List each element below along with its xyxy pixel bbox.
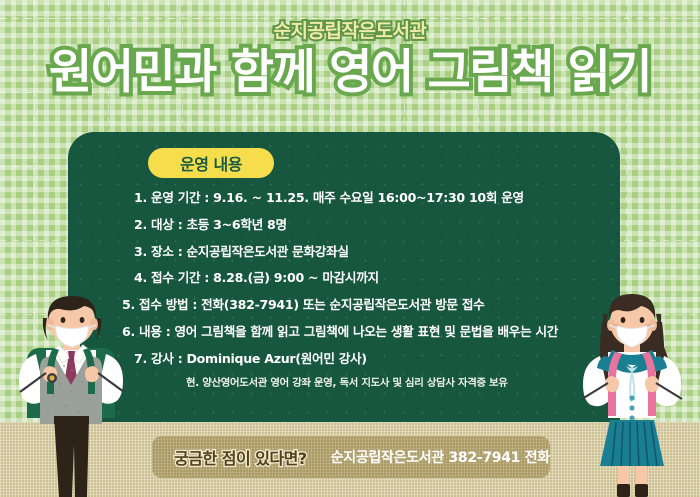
list-item: 3. 장소 : 순지공립작은도서관 문화강좌실 xyxy=(68,246,620,259)
contact-phone: 순지공립작은도서관 382-7941 전화주세요 xyxy=(331,447,550,467)
library-name-subtitle: 순지공립작은도서관 xyxy=(0,22,700,41)
list-item: 4. 접수 기간 : 8.28.(금) 9:00 ~ 마감시까지 xyxy=(68,272,620,285)
page-title: 원어민과 함께 영어 그림책 읽기 xyxy=(0,48,700,97)
poster-header: 순지공립작은도서관 원어민과 함께 영어 그림책 읽기 xyxy=(0,0,700,132)
schoolboy-illustration xyxy=(6,296,136,497)
list-item: 6. 내용 : 영어 그림책을 함께 읽고 그림책에 나오는 생활 표현 및 문… xyxy=(68,326,620,339)
poster-root: 순지공립작은도서관 원어민과 함께 영어 그림책 읽기 운영 내용 1. 운영 … xyxy=(0,0,700,497)
schoolgirl-illustration xyxy=(566,294,698,497)
program-details-list: 1. 운영 기간 : 9.16. ~ 11.25. 매주 수요일 16:00~1… xyxy=(68,192,620,389)
list-item: 5. 접수 방법 : 전화(382-7941) 또는 순지공립작은도서관 방문 … xyxy=(68,299,620,312)
section-badge: 운영 내용 xyxy=(148,148,274,178)
program-details-panel: 운영 내용 1. 운영 기간 : 9.16. ~ 11.25. 매주 수요일 1… xyxy=(68,132,620,422)
instructor-note: 현. 양산영어도서관 영어 강좌 운영, 독서 지도사 및 심리 상담사 자격증… xyxy=(68,374,620,389)
contact-question: 궁금한 점이 있다면? xyxy=(174,445,307,469)
list-item: 1. 운영 기간 : 9.16. ~ 11.25. 매주 수요일 16:00~1… xyxy=(68,192,620,205)
list-item: 2. 대상 : 초등 3~6학년 8명 xyxy=(68,219,620,232)
contact-bar: 궁금한 점이 있다면? 순지공립작은도서관 382-7941 전화주세요 xyxy=(152,436,550,478)
list-item: 7. 강사 : Dominique Azur(원어민 강사) xyxy=(68,353,620,366)
